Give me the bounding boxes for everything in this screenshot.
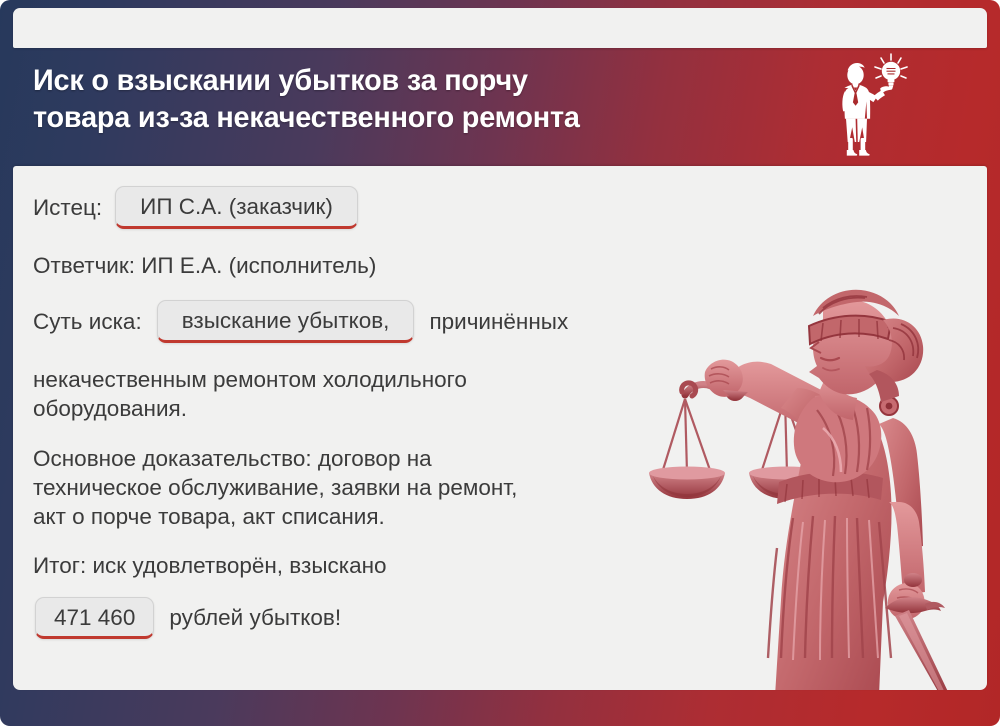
top-accent-strip bbox=[13, 8, 987, 48]
plaintiff-pill[interactable]: ИП С.А. (заказчик) bbox=[115, 186, 358, 229]
case-summary-text: Истец: ИП С.А. (заказчик) Ответчик: ИП Е… bbox=[33, 186, 733, 639]
infographic-card: Иск о взыскании убытков за порчу товара … bbox=[0, 0, 1000, 726]
amount-suffix: рублей убытков! bbox=[169, 603, 341, 632]
claim-continuation: некачественным ремонтом холодильного обо… bbox=[33, 365, 733, 424]
claim-label: Суть иска: bbox=[33, 307, 142, 336]
claim-after-pill: причинённых bbox=[429, 307, 568, 336]
page-title: Иск о взыскании убытков за порчу товара … bbox=[33, 62, 743, 136]
header-band: Иск о взыскании убытков за порчу товара … bbox=[0, 48, 1000, 166]
amount-pill[interactable]: 471 460 bbox=[35, 597, 154, 640]
businessman-lightbulb-icon bbox=[830, 50, 908, 162]
content-panel: Истец: ИП С.А. (заказчик) Ответчик: ИП Е… bbox=[13, 166, 987, 690]
claim-row: Суть иска: взыскание убытков, причинённы… bbox=[33, 300, 733, 343]
plaintiff-label: Истец: bbox=[33, 193, 102, 222]
claim-pill[interactable]: взыскание убытков, bbox=[157, 300, 415, 343]
plaintiff-row: Истец: ИП С.А. (заказчик) bbox=[33, 186, 733, 229]
evidence-text: Основное доказательство: договор на техн… bbox=[33, 444, 733, 532]
defendant-line: Ответчик: ИП Е.А. (исполнитель) bbox=[33, 251, 733, 280]
result-amount-row: 471 460 рублей убытков! bbox=[33, 597, 733, 640]
result-lead: Итог: иск удовлетворён, взыскано bbox=[33, 551, 733, 580]
